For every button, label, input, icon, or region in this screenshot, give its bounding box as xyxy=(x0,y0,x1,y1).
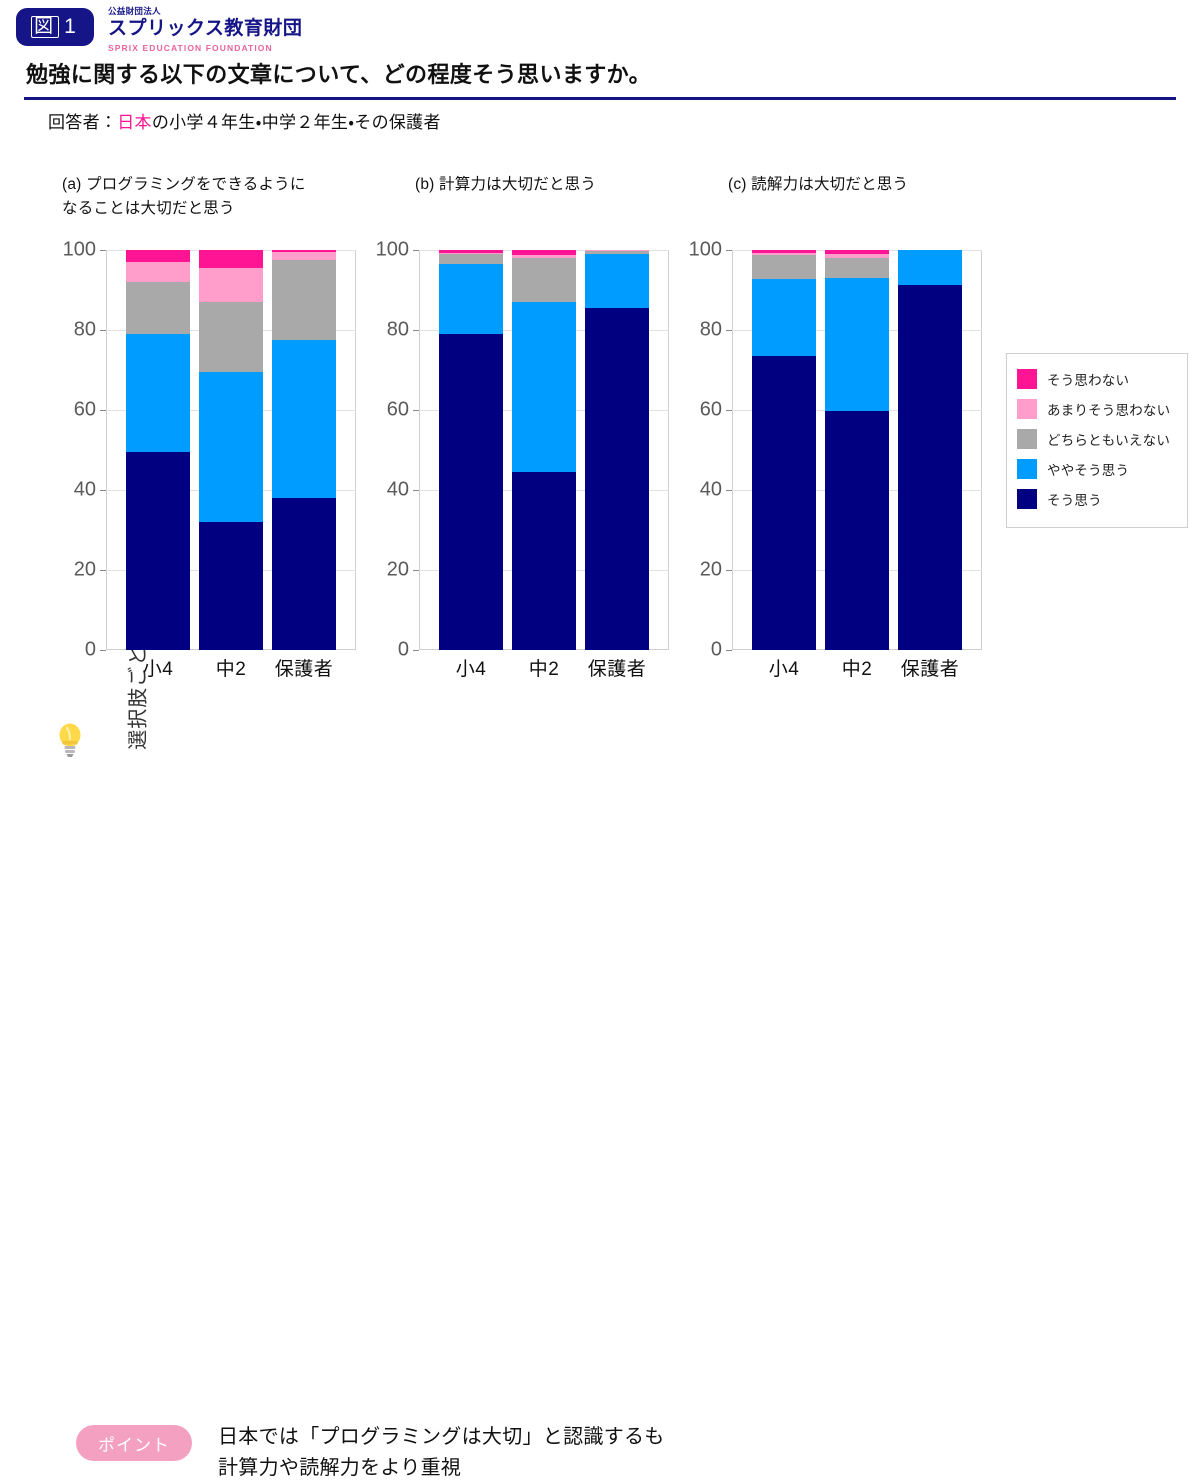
y-tick-label: 100 xyxy=(63,239,96,262)
y-tick-mark xyxy=(100,650,106,651)
point-text: 日本では「プログラミングは大切」と認識するも 計算力や読解力をより重視 xyxy=(218,1422,665,1484)
bar-segment xyxy=(585,251,649,254)
legend-swatch xyxy=(1017,429,1037,449)
x-tick-label-保護者: 保護者 xyxy=(244,654,364,681)
point-badge: ポイント xyxy=(76,1425,192,1461)
bar-segment xyxy=(439,264,503,334)
bar-segment xyxy=(272,252,336,260)
bar-segment xyxy=(898,250,962,285)
y-tick-label: 0 xyxy=(711,639,722,662)
bar-segment xyxy=(585,308,649,650)
y-tick-label: 80 xyxy=(700,319,722,342)
panel-a-bars xyxy=(106,250,356,650)
bar-segment xyxy=(825,278,889,411)
bar-segment xyxy=(126,262,190,282)
bar-segment xyxy=(825,250,889,254)
y-tick-mark xyxy=(726,650,732,651)
panel-b-bars xyxy=(419,250,669,650)
bar-segment xyxy=(439,253,503,254)
lightbulb-icon xyxy=(55,720,85,760)
footer: ポイント 日本では「プログラミングは大切」と認識するも 計算力や読解力をより重視 xyxy=(0,700,1200,800)
bar-segment xyxy=(199,250,263,268)
bar-segment xyxy=(585,250,649,251)
panel-b: 020406080100 小4中2保護者 xyxy=(419,250,669,650)
bar-b-小4 xyxy=(439,250,503,650)
bar-a-中2 xyxy=(199,250,263,650)
legend-label: あまりそう思わない xyxy=(1047,399,1170,419)
bar-segment xyxy=(585,254,649,308)
bar-c-小4 xyxy=(752,250,816,650)
bar-segment xyxy=(512,302,576,472)
bar-a-小4 xyxy=(126,250,190,650)
panel-a: 020406080100 小4中2保護者 xyxy=(106,250,356,650)
bar-b-中2 xyxy=(512,250,576,650)
y-tick-label: 20 xyxy=(387,559,409,582)
panel-c: 020406080100 小4中2保護者 xyxy=(732,250,982,650)
legend-label: そう思う xyxy=(1047,489,1102,509)
panel-c-bars xyxy=(732,250,982,650)
bar-segment xyxy=(752,255,816,279)
legend-swatch xyxy=(1017,459,1037,479)
bar-segment xyxy=(199,522,263,650)
legend-swatch xyxy=(1017,369,1037,389)
y-tick-label: 40 xyxy=(700,479,722,502)
bar-c-保護者 xyxy=(898,250,962,650)
bar-segment xyxy=(512,255,576,258)
bar-segment xyxy=(272,250,336,252)
bar-segment xyxy=(126,282,190,334)
y-tick-label: 100 xyxy=(689,239,722,262)
bar-segment xyxy=(439,254,503,264)
bar-segment xyxy=(272,340,336,498)
y-tick-label: 60 xyxy=(387,399,409,422)
legend-swatch xyxy=(1017,489,1037,509)
y-tick-label: 20 xyxy=(700,559,722,582)
x-tick-label-保護者: 保護者 xyxy=(557,654,677,681)
bar-segment xyxy=(439,250,503,253)
y-tick-label: 100 xyxy=(376,239,409,262)
bar-segment xyxy=(752,253,816,255)
legend-item[interactable]: ややそう思う xyxy=(1017,454,1179,484)
legend-label: ややそう思う xyxy=(1047,459,1129,479)
y-tick-mark xyxy=(413,650,419,651)
y-axis-label-wrap: 選択肢ごとの回答割合（%） xyxy=(0,300,40,500)
y-tick-label: 40 xyxy=(74,479,96,502)
bar-a-保護者 xyxy=(272,250,336,650)
bar-segment xyxy=(272,498,336,650)
bar-segment xyxy=(199,372,263,522)
y-tick-label: 80 xyxy=(74,319,96,342)
bar-segment xyxy=(825,258,889,278)
legend-item[interactable]: そう思わない xyxy=(1017,364,1179,394)
bar-segment xyxy=(512,472,576,650)
y-tick-label: 60 xyxy=(700,399,722,422)
bar-segment xyxy=(512,250,576,255)
legend-item[interactable]: あまりそう思わない xyxy=(1017,394,1179,424)
bar-c-中2 xyxy=(825,250,889,650)
y-tick-label: 0 xyxy=(398,639,409,662)
bar-segment xyxy=(752,250,816,253)
bar-segment xyxy=(272,260,336,340)
bar-segment xyxy=(752,279,816,356)
bar-segment xyxy=(199,268,263,302)
y-tick-label: 60 xyxy=(74,399,96,422)
bar-b-保護者 xyxy=(585,250,649,650)
chart-area: 選択肢ごとの回答割合（%） 020406080100 小4中2保護者 02040… xyxy=(0,0,1200,800)
bar-segment xyxy=(898,285,962,650)
bar-segment xyxy=(126,452,190,650)
legend-item[interactable]: そう思う xyxy=(1017,484,1179,514)
bar-segment xyxy=(126,334,190,452)
y-tick-label: 80 xyxy=(387,319,409,342)
bar-segment xyxy=(825,254,889,258)
legend-label: そう思わない xyxy=(1047,369,1129,389)
bar-segment xyxy=(199,302,263,372)
legend-label: どちらともいえない xyxy=(1047,429,1170,449)
chart-legend: そう思わないあまりそう思わないどちらともいえないややそう思うそう思う xyxy=(1006,353,1188,528)
bar-segment xyxy=(126,250,190,262)
bar-segment xyxy=(752,356,816,650)
bar-segment xyxy=(439,334,503,650)
legend-item[interactable]: どちらともいえない xyxy=(1017,424,1179,454)
legend-swatch xyxy=(1017,399,1037,419)
y-tick-label: 0 xyxy=(85,639,96,662)
bar-segment xyxy=(825,411,889,650)
x-tick-label-保護者: 保護者 xyxy=(870,654,990,681)
y-tick-label: 40 xyxy=(387,479,409,502)
y-tick-label: 20 xyxy=(74,559,96,582)
bar-segment xyxy=(512,258,576,302)
